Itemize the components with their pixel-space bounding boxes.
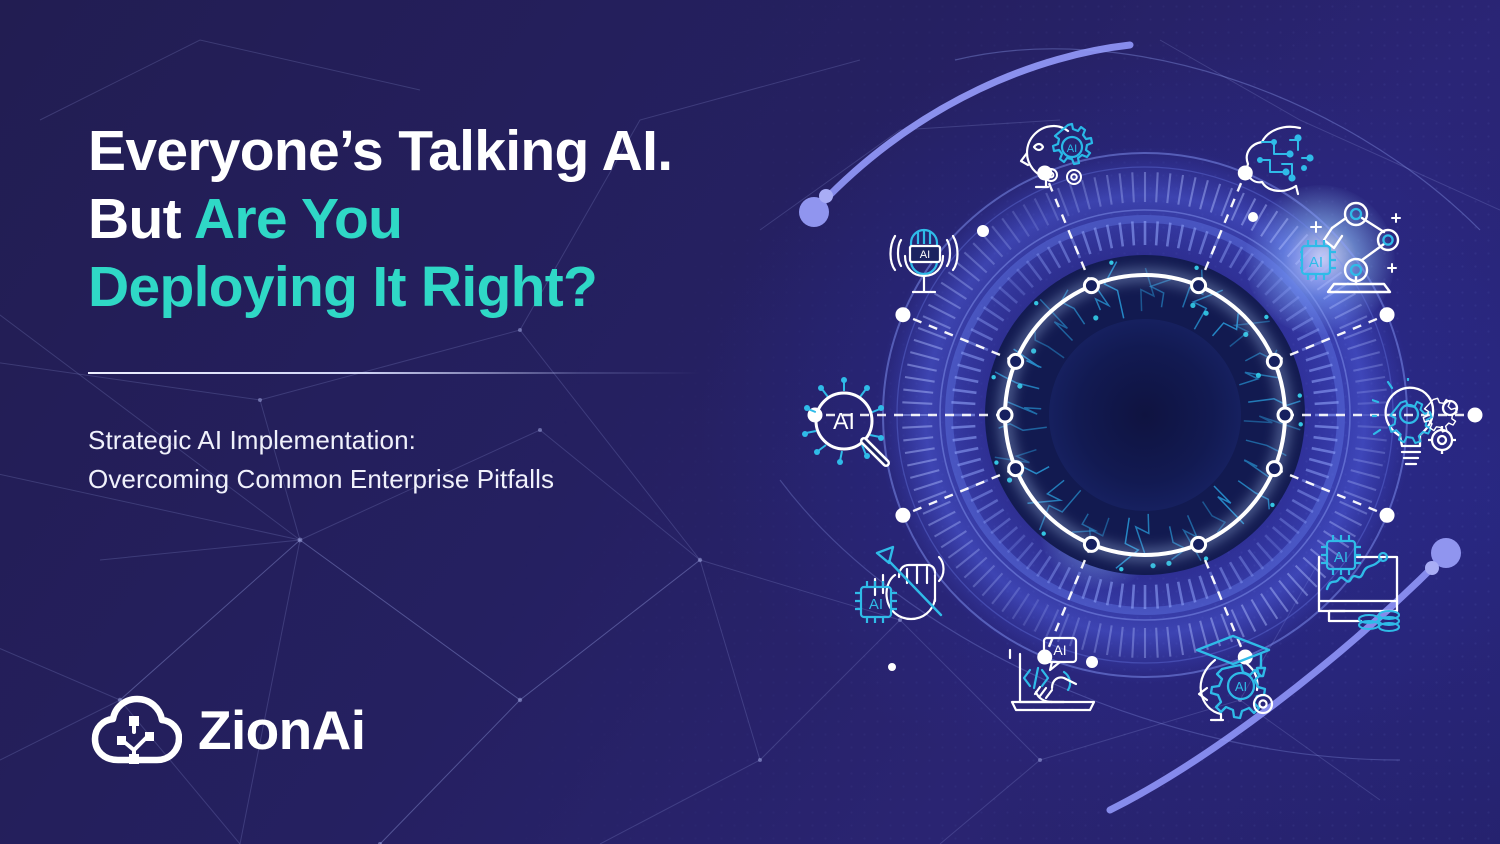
subtitle-line-2: Overcoming Common Enterprise Pitfalls [88,464,554,494]
lightbulb-gears-icon [1372,378,1472,474]
hand-pen-ai-chip-icon: AI [855,535,953,629]
brand-logo: ZionAi [90,692,365,768]
headline-line-1: Everyone’s Talking AI. [88,119,672,183]
icon-label: AI [833,408,855,434]
microphone-ai-icon: AI [885,218,963,304]
icon-label: AI [869,596,883,613]
subtitle-line-1: Strategic AI Implementation: [88,425,416,455]
laptop-code-ai-icon: AI [1002,632,1102,720]
subtitle: Strategic AI Implementation: Overcoming … [88,421,748,497]
graduate-gear-ai-icon: AI [1185,630,1281,722]
text-block: Everyone’s Talking AI. But Are You Deplo… [88,118,748,498]
icon-label: AI [1235,679,1247,694]
divider [88,372,700,374]
icon-label: AI [1309,254,1323,271]
headline-line-2-white: But [88,187,194,251]
magnifier-ai-icon: AI [800,375,900,471]
analytics-ai-chip-icon: AI [1305,535,1415,635]
robot-arm-ai-chip-icon: AI [1300,198,1404,296]
icon-label: AI [1053,642,1066,658]
icon-label: AI [920,249,930,261]
head-gear-ai-icon: AI [1012,115,1098,195]
ai-hero-graphic: AI AI [740,0,1500,844]
page-title: Everyone’s Talking AI. But Are You Deplo… [88,118,748,321]
icon-label: AI [1334,549,1348,566]
cloud-network-icon [90,692,182,768]
headline-line-2-accent: Are You [194,187,402,251]
brand-name: ZionAi [198,703,365,758]
icon-label: AI [1067,143,1077,155]
slide-canvas: Everyone’s Talking AI. But Are You Deplo… [0,0,1500,844]
circuit-brain-icon [1240,120,1320,198]
headline-line-3-accent: Deploying It Right? [88,255,597,319]
